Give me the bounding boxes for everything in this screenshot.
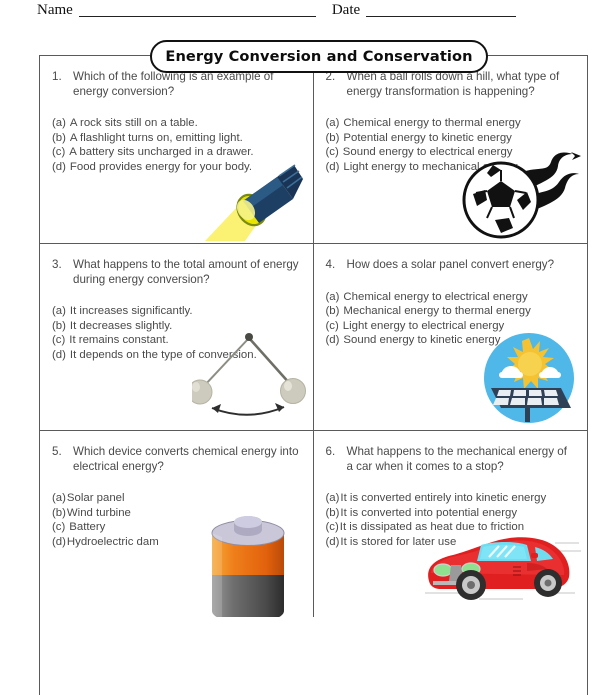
question-3-text: What happens to the total amount of ener… — [73, 258, 301, 287]
option-4b-label: Mechanical energy to thermal energy — [343, 304, 530, 319]
question-grid: 1. Which of the following is an example … — [40, 56, 587, 695]
option-1b[interactable]: (b) A flashlight turns on, emitting ligh… — [52, 131, 301, 146]
option-6b-label: It is converted into potential energy — [340, 506, 517, 521]
option-1d-label: Food provides energy for your body. — [70, 160, 252, 175]
date-write-line[interactable] — [366, 1, 516, 17]
option-6d[interactable]: (d) It is stored for later use — [326, 535, 576, 550]
option-1d-key: (d) — [52, 160, 66, 175]
question-4-heading: 4. How does a solar panel convert energy… — [326, 258, 576, 273]
question-2-options: (a) Chemical energy to thermal energy (b… — [326, 116, 576, 174]
option-3d[interactable]: (d) It depends on the type of conversion… — [52, 348, 301, 363]
question-4-options: (a) Chemical energy to electrical energy… — [326, 290, 576, 348]
question-5-heading: 5. Which device converts chemical energy… — [52, 445, 301, 474]
option-3c[interactable]: (c) It remains constant. — [52, 333, 301, 348]
option-3a-key: (a) — [52, 304, 66, 319]
question-4-text: How does a solar panel convert energy? — [347, 258, 576, 273]
question-2-text: When a ball rolls down a hill, what type… — [347, 70, 576, 99]
question-cell-3: 3. What happens to the total amount of e… — [40, 243, 314, 430]
option-5c-key: (c) — [52, 520, 65, 535]
option-6d-label: It is stored for later use — [340, 535, 456, 550]
option-5d-key: (d) — [52, 535, 66, 550]
date-label: Date — [332, 1, 360, 19]
option-3a-label: It increases significantly. — [70, 304, 193, 319]
option-4a-label: Chemical energy to electrical energy — [343, 290, 527, 305]
option-6b[interactable]: (b) It is converted into potential energ… — [326, 506, 576, 521]
option-5a-key: (a) — [52, 491, 66, 506]
question-cell-1: 1. Which of the following is an example … — [40, 56, 314, 243]
option-6c[interactable]: (c) It is dissipated as heat due to fric… — [326, 520, 576, 535]
option-4b-key: (b) — [326, 304, 340, 319]
option-5c-label: Battery — [69, 520, 105, 535]
name-label: Name — [37, 1, 73, 19]
question-3-options: (a) It increases significantly. (b) It d… — [52, 304, 301, 362]
option-5c[interactable]: (c) Battery — [52, 520, 301, 535]
worksheet-title-banner: Energy Conversion and Conservation — [150, 40, 488, 73]
option-6a[interactable]: (a) It is converted entirely into kineti… — [326, 491, 576, 506]
question-5-number: 5. — [52, 445, 73, 474]
option-1c-label: A battery sits uncharged in a drawer. — [69, 145, 253, 160]
option-4c-label: Light energy to electrical energy — [343, 319, 504, 334]
option-2a-label: Chemical energy to thermal energy — [343, 116, 520, 131]
option-4a-key: (a) — [326, 290, 340, 305]
option-5a[interactable]: (a) Solar panel — [52, 491, 301, 506]
option-5b[interactable]: (b) Wind turbine — [52, 506, 301, 521]
option-6d-key: (d) — [326, 535, 340, 550]
question-5-text: Which device converts chemical energy in… — [73, 445, 301, 474]
page-title: Energy Conversion and Conservation — [165, 48, 472, 65]
option-2b-label: Potential energy to kinetic energy — [343, 131, 511, 146]
option-6c-label: It is dissipated as heat due to friction — [340, 520, 524, 535]
worksheet-header: Name Date — [0, 0, 616, 24]
option-4c[interactable]: (c) Light energy to electrical energy — [326, 319, 576, 334]
option-2d[interactable]: (d) Light energy to mechanical energy — [326, 160, 576, 175]
option-1d[interactable]: (d) Food provides energy for your body. — [52, 160, 301, 175]
option-3a[interactable]: (a) It increases significantly. — [52, 304, 301, 319]
question-2-heading: 2. When a ball rolls down a hill, what t… — [326, 70, 576, 99]
option-3d-key: (d) — [52, 348, 66, 363]
option-1c[interactable]: (c) A battery sits uncharged in a drawer… — [52, 145, 301, 160]
option-5d[interactable]: (d) Hydroelectric dam — [52, 535, 301, 550]
option-2c-label: Sound energy to electrical energy — [343, 145, 513, 160]
option-4b[interactable]: (b) Mechanical energy to thermal energy — [326, 304, 576, 319]
question-cell-4: 4. How does a solar panel convert energy… — [314, 243, 588, 430]
option-5d-label: Hydroelectric dam — [67, 535, 159, 550]
option-1b-key: (b) — [52, 131, 66, 146]
option-6b-key: (b) — [326, 506, 340, 521]
question-cell-5: 5. Which device converts chemical energy… — [40, 430, 314, 617]
option-2a[interactable]: (a) Chemical energy to thermal energy — [326, 116, 576, 131]
name-write-line[interactable] — [79, 1, 316, 17]
question-3-heading: 3. What happens to the total amount of e… — [52, 258, 301, 287]
option-2b-key: (b) — [326, 131, 340, 146]
option-3c-label: It remains constant. — [69, 333, 168, 348]
question-5-options: (a) Solar panel (b) Wind turbine (c) Bat… — [52, 491, 301, 549]
option-3d-label: It depends on the type of conversion. — [70, 348, 257, 363]
option-4d-label: Sound energy to kinetic energy — [343, 333, 500, 348]
question-6-number: 6. — [326, 445, 347, 474]
question-1-number: 1. — [52, 70, 73, 99]
option-5b-label: Wind turbine — [67, 506, 131, 521]
option-3b[interactable]: (b) It decreases slightly. — [52, 319, 301, 334]
option-1b-label: A flashlight turns on, emitting light. — [70, 131, 243, 146]
option-4c-key: (c) — [326, 319, 339, 334]
question-1-text: Which of the following is an example of … — [73, 70, 301, 99]
option-2c-key: (c) — [326, 145, 339, 160]
option-5a-label: Solar panel — [67, 491, 125, 506]
option-1a-label: A rock sits still on a table. — [70, 116, 198, 131]
worksheet-table: 1. Which of the following is an example … — [39, 55, 588, 695]
option-3b-label: It decreases slightly. — [70, 319, 172, 334]
option-2d-key: (d) — [326, 160, 340, 175]
option-2c[interactable]: (c) Sound energy to electrical energy — [326, 145, 576, 160]
option-4a[interactable]: (a) Chemical energy to electrical energy — [326, 290, 576, 305]
option-6c-key: (c) — [326, 520, 339, 535]
option-4d[interactable]: (d) Sound energy to kinetic energy — [326, 333, 576, 348]
question-6-heading: 6. What happens to the mechanical energy… — [326, 445, 576, 474]
question-2-number: 2. — [326, 70, 347, 99]
option-1a[interactable]: (a) A rock sits still on a table. — [52, 116, 301, 131]
option-1a-key: (a) — [52, 116, 66, 131]
question-1-options: (a) A rock sits still on a table. (b) A … — [52, 116, 301, 174]
question-3-number: 3. — [52, 258, 73, 287]
option-6a-key: (a) — [326, 491, 340, 506]
option-5b-key: (b) — [52, 506, 66, 521]
option-2d-label: Light energy to mechanical energy — [343, 160, 517, 175]
option-4d-key: (d) — [326, 333, 340, 348]
question-cell-6: 6. What happens to the mechanical energy… — [314, 430, 588, 617]
question-6-text: What happens to the mechanical energy of… — [347, 445, 576, 474]
question-cell-2: 2. When a ball rolls down a hill, what t… — [314, 56, 588, 243]
question-6-options: (a) It is converted entirely into kineti… — [326, 491, 576, 549]
question-1-heading: 1. Which of the following is an example … — [52, 70, 301, 99]
option-1c-key: (c) — [52, 145, 65, 160]
option-3c-key: (c) — [52, 333, 65, 348]
option-6a-label: It is converted entirely into kinetic en… — [340, 491, 546, 506]
option-3b-key: (b) — [52, 319, 66, 334]
option-2b[interactable]: (b) Potential energy to kinetic energy — [326, 131, 576, 146]
question-4-number: 4. — [326, 258, 347, 273]
option-2a-key: (a) — [326, 116, 340, 131]
